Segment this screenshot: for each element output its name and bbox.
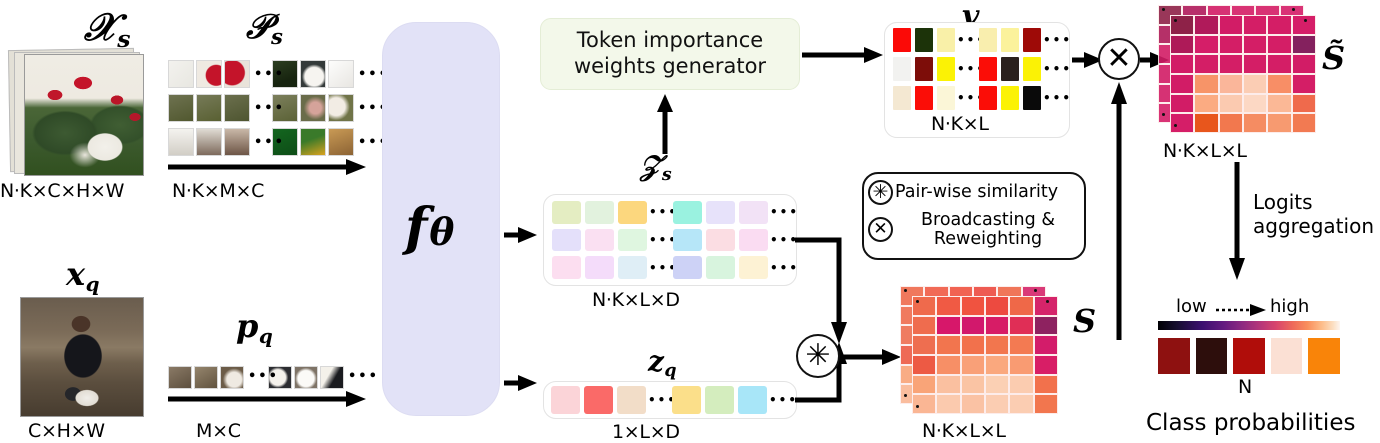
pairwise-operator-icon: ✳: [796, 334, 840, 378]
similarity-cell: [1219, 74, 1243, 94]
weight-cell: [1023, 57, 1041, 81]
similarity-cell: [936, 296, 960, 316]
similarity-cell: [1194, 113, 1218, 133]
similarity-cell: [1267, 15, 1291, 35]
similarity-cell: [1170, 74, 1194, 94]
query-patches-label: 𝒑q: [236, 310, 273, 346]
similarity-cell: [912, 316, 936, 336]
query-feature-cell: [551, 386, 580, 414]
similarity-cell: [1194, 35, 1218, 55]
similarity-cell: [1034, 375, 1058, 395]
similarity-cell: [961, 375, 985, 395]
similarity-cell: [912, 335, 936, 355]
similarity-cell: [1034, 355, 1058, 375]
encoder-to-query-features-arrow: [504, 374, 538, 392]
query-feature-cell: [584, 386, 613, 414]
similarity-cell: [1243, 113, 1267, 133]
patch-tile: [168, 128, 194, 156]
similarity-cell: [1009, 394, 1033, 414]
generator-line-1: Token importance: [574, 28, 766, 54]
patch-tile: [224, 60, 250, 88]
patch-tile: [168, 60, 194, 88]
similarity-cell: [1243, 74, 1267, 94]
query-patches-arrow: [168, 390, 368, 408]
grid-ellipsis: •••: [1043, 63, 1072, 75]
weight-cell: [979, 86, 997, 110]
feature-cell: [706, 256, 735, 279]
grid-ellipsis: •••: [1043, 92, 1072, 104]
weights-dims: N·K×L: [931, 113, 989, 135]
patch-tile: [168, 366, 192, 389]
similarity-cell: [1009, 355, 1033, 375]
similarity-cell: [985, 335, 1009, 355]
weight-cell: [1023, 28, 1041, 52]
pairwise-similarity-label: Pair-wise similarity: [895, 183, 1058, 202]
feature-cell: [552, 229, 581, 252]
similarity-cell: [936, 375, 960, 395]
patch-tile: [320, 366, 344, 389]
feature-cell: [739, 256, 768, 279]
similarity-cell: [985, 296, 1009, 316]
patch-tile: [224, 94, 250, 122]
feature-cell: [618, 256, 647, 279]
similarity-cell: [1219, 94, 1243, 114]
feature-cell: [739, 201, 768, 224]
weight-cell: [915, 86, 933, 110]
similarity-cell: [1243, 54, 1267, 74]
logits-line-2: aggregation: [1253, 214, 1374, 238]
query-feature-cell: [705, 386, 734, 414]
support-image-dims: N·K×C×H×W: [0, 180, 124, 202]
feature-cell: [552, 201, 581, 224]
corner-dot: [904, 394, 907, 397]
similarity-cell: [936, 394, 960, 414]
weight-cell: [1001, 28, 1019, 52]
similarity-label: S: [1073, 305, 1096, 337]
corner-dot: [1162, 8, 1165, 11]
feature-cell: [585, 229, 614, 252]
similarity-cell: [1292, 35, 1316, 55]
patch-tile: [224, 128, 250, 156]
logits-line-1: Logits: [1253, 190, 1374, 214]
similarity-cell: [1219, 113, 1243, 133]
feature-cell: [585, 256, 614, 279]
similarity-cell: [1219, 54, 1243, 74]
similarity-cell: [1267, 54, 1291, 74]
similarity-cell: [936, 335, 960, 355]
class-probability-row: [1158, 338, 1340, 374]
patch-tile: [196, 128, 222, 156]
scale-high-label: high: [1270, 296, 1309, 317]
features-to-generator-arrow: [656, 94, 674, 154]
similarity-cell: [1267, 94, 1291, 114]
similarity-cell: [912, 394, 936, 414]
query-feature-cell: [738, 386, 767, 414]
feature-cell: [618, 229, 647, 252]
pairwise-similarity-icon: ✳: [868, 180, 893, 205]
similarity-cell: [1267, 35, 1291, 55]
similarity-cell: [936, 316, 960, 336]
similarity-cell: [961, 394, 985, 414]
similarity-cell: [1170, 35, 1194, 55]
scale-low-label: low: [1176, 296, 1207, 317]
similarity-cell: [961, 296, 985, 316]
corner-dot: [1174, 124, 1177, 127]
weighted-similarity-label: S̃: [1322, 42, 1345, 74]
patch-tile: [220, 366, 244, 389]
weight-cell: [893, 86, 911, 110]
similarity-cell: [985, 375, 1009, 395]
similarity-cell: [1194, 74, 1218, 94]
weight-cell: [1001, 86, 1019, 110]
query-features-dims: 1×L×D: [612, 421, 680, 443]
corner-dot: [1162, 113, 1165, 116]
patch-tile: [328, 128, 354, 156]
encoder-label: fθ: [405, 202, 454, 254]
query-patch-ellipsis: •••: [348, 370, 379, 383]
weight-cell: [893, 28, 911, 52]
query-image-dims: C×H×W: [28, 420, 105, 442]
similarity-matrix: [900, 286, 1060, 416]
support-features-grid: ••••••••••••••••••: [552, 201, 790, 279]
similarity-cell: [1219, 15, 1243, 35]
weight-cell: [937, 28, 955, 52]
similarity-cell: [1194, 94, 1218, 114]
similarity-cell: [1170, 94, 1194, 114]
broadcast-label-line-2: Reweighting: [899, 230, 1077, 249]
weight-cell: [893, 57, 911, 81]
weight-cell: [1023, 86, 1041, 110]
broadcast-operator-icon: ✕: [1098, 38, 1140, 80]
weight-cell: [937, 57, 955, 81]
similarity-cell: [1034, 394, 1058, 414]
patch-tile: [194, 366, 218, 389]
similarity-cell: [1034, 296, 1058, 316]
query-image-photo: [20, 297, 144, 417]
similarity-cell: [1009, 296, 1033, 316]
weight-cell: [915, 57, 933, 81]
feature-cell: [673, 201, 702, 224]
weight-cell: [915, 28, 933, 52]
similarity-cell: [1267, 74, 1291, 94]
similarity-cell: [1170, 113, 1194, 133]
similarity-cell: [1243, 15, 1267, 35]
corner-dot: [1046, 300, 1049, 303]
corner-dot: [1034, 289, 1037, 292]
grid-ellipsis: •••: [769, 394, 798, 406]
similarity-cell: [936, 355, 960, 375]
similarity-cell: [1267, 113, 1291, 133]
corner-dot: [1174, 19, 1177, 22]
support-patch-grid: ••• ••• ••• ••• ••• •••: [168, 60, 358, 160]
class-probabilities-caption: Class probabilities: [1146, 410, 1355, 436]
similarity-cell: [1194, 54, 1218, 74]
encoder-to-support-features-arrow: [504, 226, 538, 244]
patch-tile: [294, 366, 318, 389]
similarity-cell: [1009, 335, 1033, 355]
class-probability-cell: [1271, 338, 1303, 374]
similarity-cell: [961, 316, 985, 336]
similarity-cell: [1243, 35, 1267, 55]
similarity-cell: [1009, 375, 1033, 395]
support-features-to-pairwise-line: [795, 234, 865, 352]
support-patches-label: 𝒫s: [246, 10, 283, 47]
corner-dot: [1304, 19, 1307, 22]
patch-tile: [300, 128, 326, 156]
broadcast-label-line-1: Broadcasting &: [899, 211, 1077, 230]
support-image-stack: [18, 54, 144, 176]
patch-tile: [300, 94, 326, 122]
patch-tile: [196, 94, 222, 122]
similarity-cell: [912, 296, 936, 316]
similarity-cell: [1194, 15, 1218, 35]
support-features-label: 𝒵s: [640, 152, 672, 184]
similarity-cell: [985, 394, 1009, 414]
patch-ellipsis: •••: [254, 102, 285, 115]
query-features-row: ••••••: [551, 386, 789, 414]
patch-tile: [196, 60, 222, 88]
query-image-label: 𝒙q: [66, 258, 99, 294]
query-features-label: 𝒛q: [648, 348, 677, 380]
corner-dot: [916, 300, 919, 303]
generator-line-2: weights generator: [574, 54, 766, 80]
pairwise-to-similarity-arrow: [840, 348, 902, 366]
support-patches-dims: N·K×M×C: [172, 180, 264, 202]
similarity-cell: [1219, 35, 1243, 55]
patch-tile: [168, 94, 194, 122]
feature-cell: [739, 229, 768, 252]
diagram-canvas: 𝒳s N·K×C×H×W 𝒫s ••• ••• •••: [0, 0, 1380, 441]
weighted-similarity-front-layer: [1170, 15, 1316, 133]
query-patches-dims: M×C: [196, 420, 241, 442]
query-patch-row: ••• •••: [168, 366, 364, 390]
similarity-cell: [1292, 54, 1316, 74]
logits-aggregation-caption: Logits aggregation: [1253, 190, 1374, 238]
similarity-cell: [912, 355, 936, 375]
similarity-dims: N·K×L×L: [922, 420, 1006, 442]
patch-ellipsis: •••: [254, 68, 285, 81]
patch-tile: [300, 60, 326, 88]
patch-tile: [328, 94, 354, 122]
similarity-cell: [1243, 94, 1267, 114]
feature-cell: [706, 229, 735, 252]
class-probability-cell: [1196, 338, 1228, 374]
feature-cell: [673, 256, 702, 279]
weight-cell: [979, 28, 997, 52]
support-image-photo: [24, 54, 144, 176]
weights-grid: ••••••••••••••••••: [893, 28, 1061, 110]
similarity-matrix-front-layer: [912, 296, 1058, 414]
feature-cell: [552, 256, 581, 279]
class-probability-cell: [1158, 338, 1190, 374]
support-patches-arrow: [168, 158, 368, 176]
probability-colorbar: [1158, 321, 1340, 330]
patch-ellipsis: •••: [254, 136, 285, 149]
similarity-cell: [1170, 54, 1194, 74]
similarity-cell: [985, 316, 1009, 336]
similarity-cell: [1292, 15, 1316, 35]
query-patch-ellipsis: •••: [248, 370, 279, 383]
feature-cell: [706, 201, 735, 224]
token-importance-generator-box[interactable]: Token importance weights generator: [540, 18, 800, 90]
broadcasting-reweighting-icon: ✕: [868, 217, 893, 242]
weight-cell: [979, 57, 997, 81]
similarity-cell: [1292, 74, 1316, 94]
logits-aggregation-arrow: [1228, 162, 1246, 280]
similarity-cell: [1292, 94, 1316, 114]
feature-cell: [618, 201, 647, 224]
generator-to-weights-arrow: [802, 46, 884, 64]
query-feature-cell: [672, 386, 701, 414]
class-probability-dims: N: [1238, 376, 1252, 398]
weighted-similarity-dims: N·K×L×L: [1163, 140, 1247, 162]
similarity-cell: [1292, 113, 1316, 133]
feature-cell: [673, 229, 702, 252]
weighted-similarity-matrix: [1158, 5, 1318, 135]
grid-ellipsis: •••: [1043, 34, 1072, 46]
similarity-cell: [1170, 15, 1194, 35]
similarity-cell: [912, 375, 936, 395]
query-feature-cell: [617, 386, 646, 414]
similarity-cell: [1034, 316, 1058, 336]
similarity-cell: [961, 355, 985, 375]
grid-ellipsis: •••: [770, 206, 799, 218]
weight-cell: [1001, 57, 1019, 81]
support-set-label: 𝒳s: [84, 8, 130, 51]
support-features-dims: N·K×L×D: [592, 289, 680, 311]
similarity-cell: [961, 335, 985, 355]
similarity-to-broadcast-arrow: [1110, 82, 1128, 340]
corner-dot: [1292, 8, 1295, 11]
class-probability-cell: [1308, 338, 1340, 374]
patch-tile: [328, 60, 354, 88]
weight-cell: [937, 86, 955, 110]
similarity-cell: [985, 355, 1009, 375]
feature-cell: [585, 201, 614, 224]
corner-dot: [904, 289, 907, 292]
class-probability-cell: [1233, 338, 1265, 374]
corner-dot: [916, 405, 919, 408]
operator-legend-box: ✳ Pair-wise similarity ✕ Broadcasting & …: [862, 172, 1086, 260]
similarity-cell: [1009, 316, 1033, 336]
scale-direction-arrow: [1216, 303, 1268, 317]
similarity-cell: [1034, 335, 1058, 355]
